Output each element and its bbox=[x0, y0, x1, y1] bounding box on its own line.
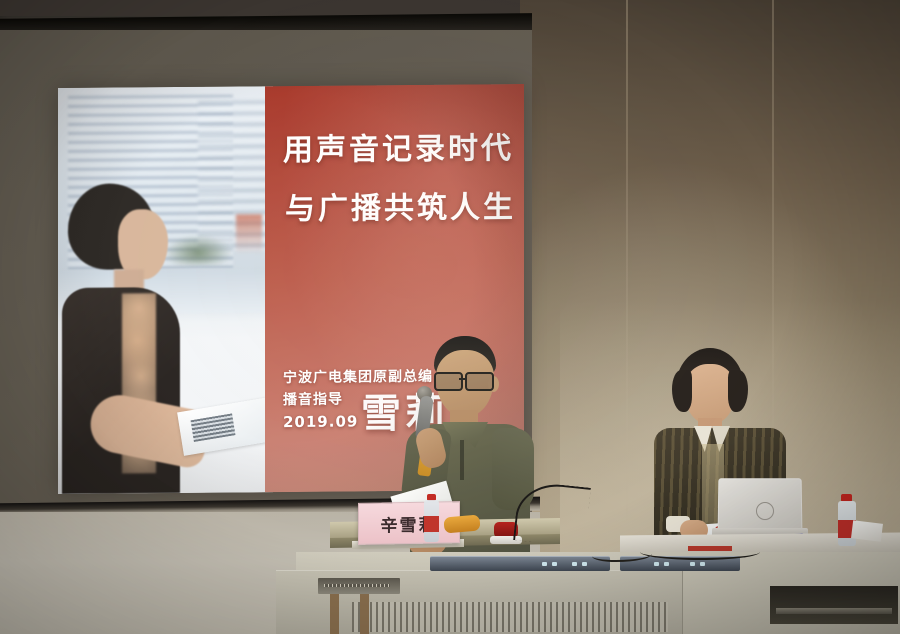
bottle-label bbox=[424, 516, 439, 532]
rack-led bbox=[552, 562, 557, 566]
slide-photo-newspaper bbox=[177, 397, 275, 456]
slide-photo-crane bbox=[236, 214, 262, 254]
orange-cup[interactable] bbox=[443, 514, 480, 533]
rack-led bbox=[690, 562, 695, 566]
rack-led bbox=[654, 562, 659, 566]
rack-led bbox=[582, 562, 587, 566]
man-shirt-placket bbox=[460, 440, 464, 480]
woman-hair-right bbox=[728, 370, 748, 412]
glasses-lens-left bbox=[434, 372, 463, 391]
water-bottle-left[interactable] bbox=[424, 494, 439, 542]
glasses-bridge bbox=[459, 378, 467, 380]
woman-hair-left bbox=[672, 370, 692, 412]
glasses-lens-right bbox=[465, 372, 494, 391]
laptop[interactable] bbox=[712, 478, 804, 540]
presentation-photo: 用声音记录时代 与广播共筑人生 宁波广电集团原副总编 播音指导 2019.09 … bbox=[0, 0, 900, 634]
console-leg bbox=[360, 594, 369, 634]
laptop-logo-icon bbox=[756, 502, 774, 520]
slide-title: 用声音记录时代 与广播共筑人生 bbox=[283, 120, 509, 239]
slide-title-line-1: 用声音记录时代 bbox=[283, 120, 509, 180]
laptop-lid bbox=[718, 478, 803, 530]
console-cubby-shelf bbox=[776, 608, 892, 614]
slide-photo-woman-body bbox=[62, 287, 180, 494]
rack-slide-rail-left bbox=[430, 556, 610, 571]
console-slot-left bbox=[318, 578, 400, 594]
console-leg bbox=[330, 594, 339, 634]
slide-photo-woman bbox=[62, 183, 190, 494]
rack-led bbox=[664, 562, 669, 566]
napkin bbox=[851, 520, 883, 542]
console-cable bbox=[640, 544, 760, 560]
console-cubby bbox=[770, 586, 898, 624]
console-vent-grille bbox=[352, 602, 668, 632]
rack-led bbox=[700, 562, 705, 566]
slide-photograph bbox=[58, 86, 273, 494]
rack-led bbox=[572, 562, 577, 566]
slide-title-line-2: 与广播共筑人生 bbox=[283, 179, 509, 239]
rack-led bbox=[542, 562, 547, 566]
man-glasses bbox=[433, 372, 497, 388]
